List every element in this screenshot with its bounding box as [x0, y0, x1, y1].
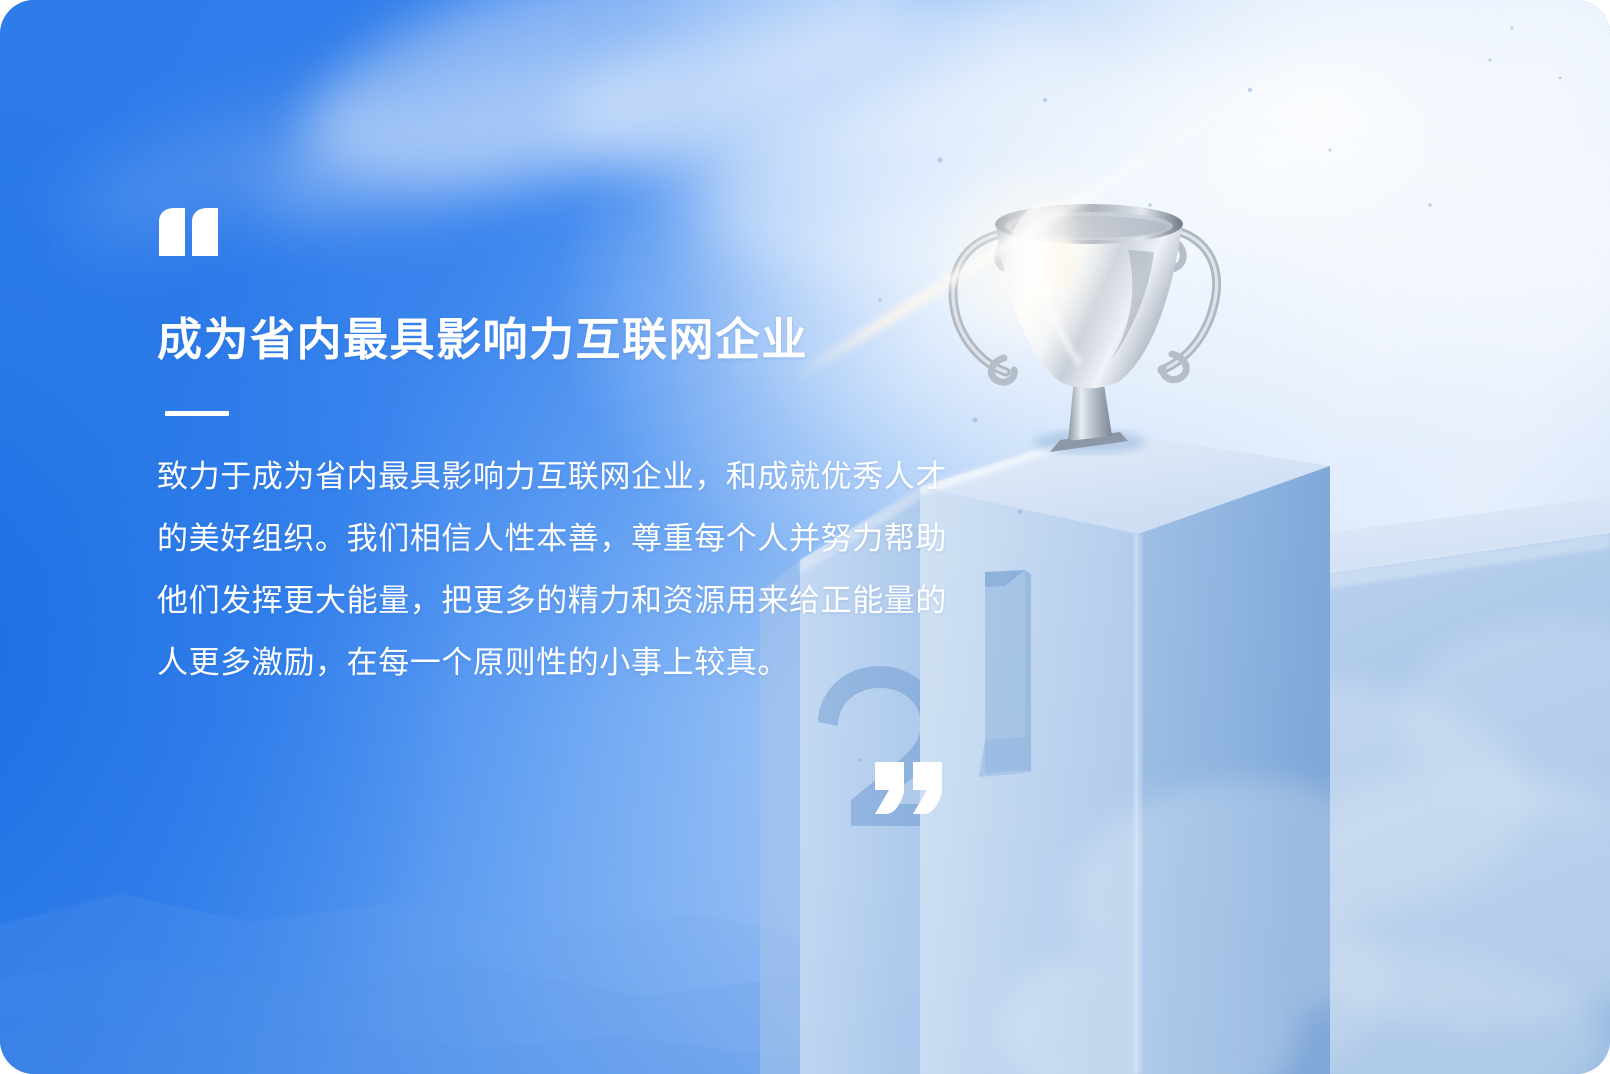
body-paragraph: 致力于成为省内最具影响力互联网企业，和成就优秀人才的美好组织。我们相信人性本善，…	[157, 446, 947, 694]
quote-close-icon	[875, 762, 945, 818]
quote-open-icon	[159, 208, 221, 260]
trophy-icon	[953, 202, 1217, 453]
podium-numeral-1	[979, 570, 1031, 777]
quote-open-glyph	[159, 208, 221, 256]
title-divider	[165, 411, 229, 416]
text-content: 成为省内最具影响力互联网企业 致力于成为省内最具影响力互联网企业，和成就优秀人才…	[157, 0, 957, 1074]
quote-close-glyph	[875, 762, 945, 814]
page-title: 成为省内最具影响力互联网企业	[157, 303, 808, 368]
promo-banner: 成为省内最具影响力互联网企业 致力于成为省内最具影响力互联网企业，和成就优秀人才…	[0, 0, 1610, 1074]
